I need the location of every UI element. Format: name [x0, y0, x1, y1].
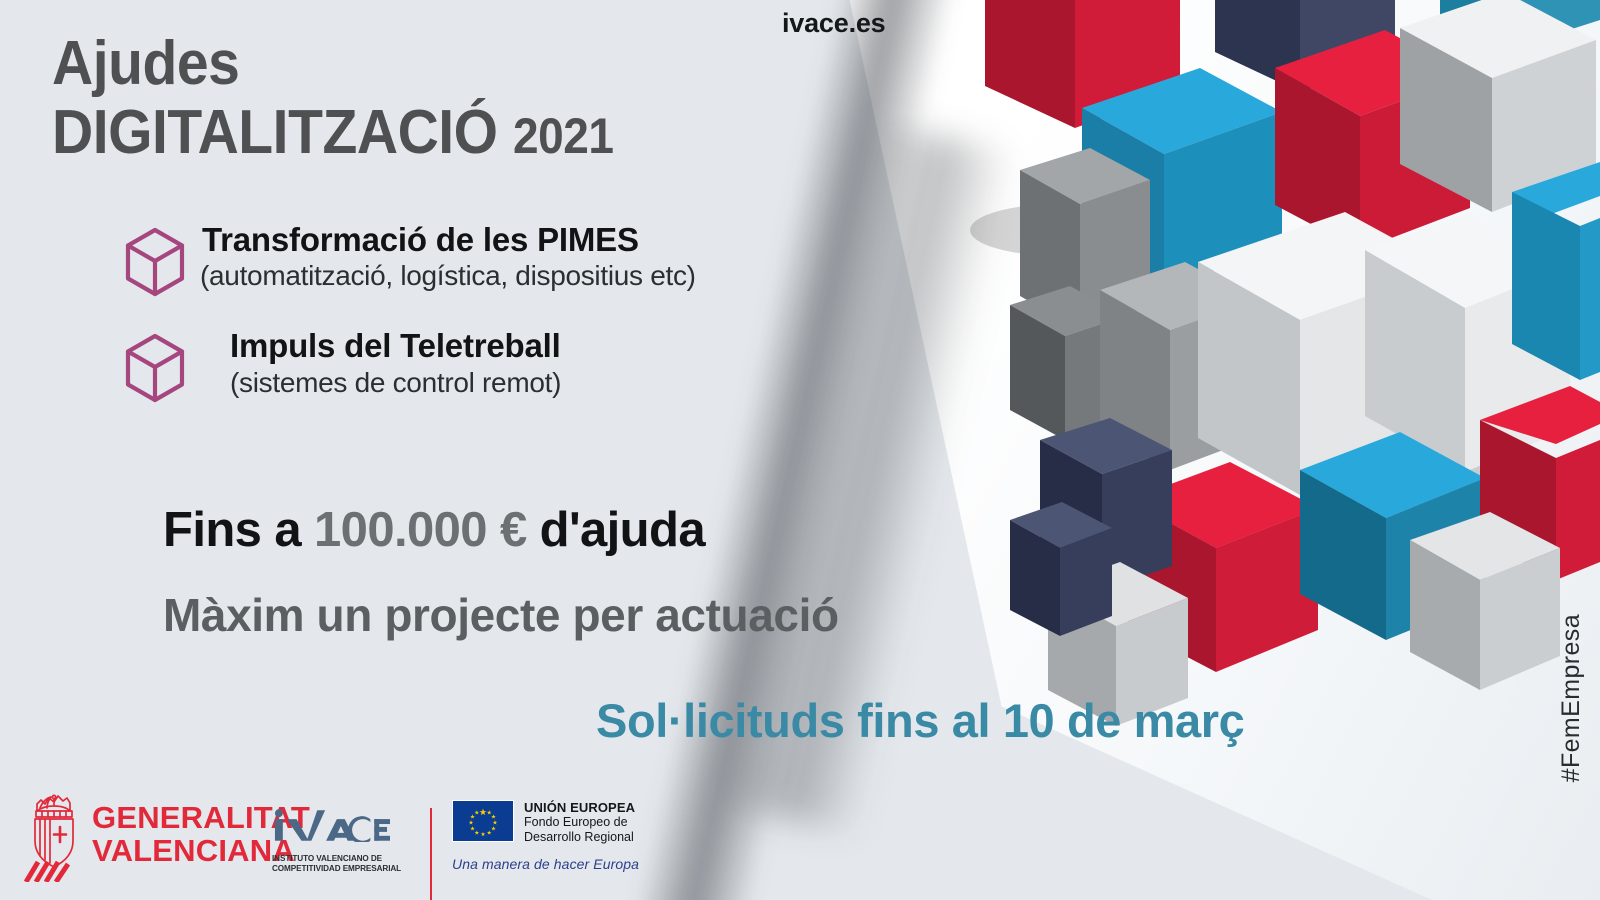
ivace-sub-line2: COMPETITIVIDAD EMPRESARIAL: [272, 863, 401, 873]
bullet-title: Transformació de les PIMES: [202, 222, 882, 258]
eu-line1: Fondo Europeo de: [524, 815, 635, 830]
generalitat-valenciana-logo: GENERALITAT VALENCIANA: [24, 786, 310, 882]
bullet-subtitle: (sistemes de control remot): [230, 367, 882, 399]
list-item: Transformació de les PIMES (automatitzac…: [122, 222, 882, 292]
cube-white-1: [1400, 0, 1596, 212]
headline-program: DIGITALITZACIÓ: [52, 98, 498, 167]
panel-edge-shadow: [629, 0, 958, 900]
cube-grey-2: [1010, 286, 1125, 440]
amount-prefix: Fins a: [163, 503, 301, 557]
cube-grey-1: [1020, 148, 1150, 330]
bullet-subtitle: (automatització, logística, dispositius …: [200, 260, 882, 292]
cube-navy-1: [1215, 0, 1395, 92]
list-item: Impuls del Teletreball (sistemes de cont…: [122, 328, 882, 398]
cube-outline-icon: [122, 332, 188, 404]
poster-root: ivace.es Ajudes DIGITALITZACIÓ 2021 Tran…: [0, 0, 1600, 900]
cube-white-2: [1198, 212, 1448, 495]
eu-motto: Una manera de hacer Europa: [452, 856, 639, 872]
footer-divider: [430, 808, 432, 900]
hashtag-label: #FemEmpresa: [1557, 614, 1586, 782]
amount-value: 100.000 €: [314, 503, 527, 557]
amount-suffix: d'ajuda: [540, 503, 705, 557]
cube-outline-icon: [122, 226, 188, 298]
headline-line1: Ajudes: [52, 32, 613, 95]
cube-navy-2: [1040, 418, 1172, 590]
cube-grey-3: [1100, 262, 1255, 470]
ivace-mark-icon: [272, 808, 390, 842]
site-url[interactable]: ivace.es: [782, 8, 886, 39]
cube-grey-4: [1410, 512, 1560, 690]
cube-navy-3: [1010, 502, 1112, 636]
generalitat-coat-of-arms-icon: [24, 786, 84, 882]
grant-amount: Fins a 100.000 € d'ajuda: [163, 502, 705, 558]
bullet-list: Transformació de les PIMES (automatitzac…: [122, 222, 882, 423]
eu-line2: Desarrollo Regional: [524, 830, 635, 845]
cube-teal-2: [1300, 432, 1485, 640]
eu-title: UNIÓN EUROPEA: [524, 800, 635, 815]
headline-line2: DIGITALITZACIÓ 2021: [52, 101, 613, 164]
ivace-sub-line1: INSTITUTO VALENCIANO DE: [272, 853, 401, 863]
max-projects-note: Màxim un projecte per actuació: [163, 588, 839, 642]
cube-cyan-1: [1082, 68, 1282, 290]
eu-flag-icon: [452, 800, 514, 842]
ivace-logo: INSTITUTO VALENCIANO DE COMPETITIVIDAD E…: [272, 808, 408, 874]
deadline-text: Sol·licituds fins al 10 de març: [596, 693, 1244, 748]
cube-red-2: [1275, 30, 1470, 250]
ivace-wordmark: [272, 808, 408, 848]
ivace-subtitle: INSTITUTO VALENCIANO DE COMPETITIVIDAD E…: [272, 853, 401, 874]
cube-teal-back: [1440, 0, 1600, 70]
cube-red-1: [985, 0, 1180, 128]
european-union-logo: UNIÓN EUROPEA Fondo Europeo de Desarroll…: [452, 800, 639, 872]
cube-red-4: [1480, 386, 1600, 580]
cube-red-3: [1128, 462, 1318, 672]
bullet-title: Impuls del Teletreball: [230, 328, 882, 364]
headline-year: 2021: [513, 108, 613, 164]
cube-cyan-2: [1512, 162, 1600, 380]
cube-white-3: [1365, 212, 1570, 472]
page-title: Ajudes DIGITALITZACIÓ 2021: [52, 32, 662, 164]
